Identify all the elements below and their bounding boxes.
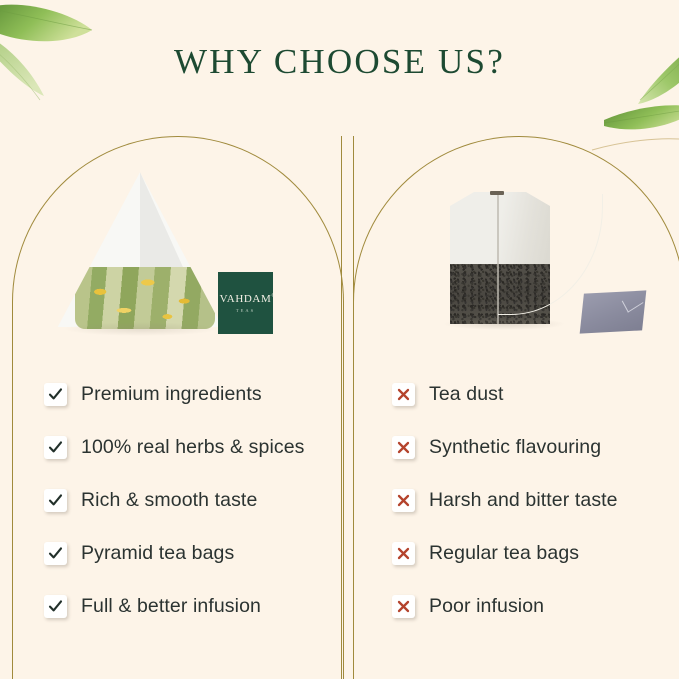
list-item: 100% real herbs & spices: [44, 421, 334, 474]
list-item-label: Regular tea bags: [429, 542, 579, 565]
check-icon: [44, 489, 67, 512]
cross-icon: [392, 383, 415, 406]
benefits-list: Premium ingredients 100% real herbs & sp…: [44, 368, 334, 633]
conventional-tea-bag-image: [440, 178, 650, 353]
list-item-label: Rich & smooth taste: [81, 489, 257, 512]
check-icon: [44, 595, 67, 618]
list-item: Poor infusion: [392, 580, 672, 633]
cross-icon: [392, 436, 415, 459]
list-item: Pyramid tea bags: [44, 527, 334, 580]
list-item: Regular tea bags: [392, 527, 672, 580]
list-item-label: Harsh and bitter taste: [429, 489, 618, 512]
column-divider-line-2: [353, 136, 354, 679]
vahdam-logo-badge: VAHDAM® TEAS: [218, 272, 273, 334]
list-item: Synthetic flavouring: [392, 421, 672, 474]
list-item-label: Full & better infusion: [81, 595, 261, 618]
cross-icon: [392, 595, 415, 618]
list-item: Tea dust: [392, 368, 672, 421]
list-item-label: Pyramid tea bags: [81, 542, 234, 565]
promo-graphic: WHY CHOOSE US? VAHDAM® TEAS: [0, 0, 679, 679]
cross-icon: [392, 489, 415, 512]
brand-name: VAHDAM: [220, 293, 272, 305]
list-item-label: Synthetic flavouring: [429, 436, 601, 459]
check-icon: [44, 542, 67, 565]
list-item: Rich & smooth taste: [44, 474, 334, 527]
pyramid-tea-bag-image: VAHDAM® TEAS: [55, 172, 285, 352]
drawbacks-list: Tea dust Synthetic flavouring Harsh and …: [392, 368, 672, 633]
list-item-label: Poor infusion: [429, 595, 544, 618]
list-item: Premium ingredients: [44, 368, 334, 421]
page-title: WHY CHOOSE US?: [0, 42, 679, 82]
column-divider-line-1: [341, 136, 342, 679]
brand-tagline: TEAS: [236, 308, 255, 313]
list-item-label: 100% real herbs & spices: [81, 436, 305, 459]
list-item-label: Tea dust: [429, 383, 504, 406]
list-item-label: Premium ingredients: [81, 383, 262, 406]
list-item: Full & better infusion: [44, 580, 334, 633]
cross-icon: [392, 542, 415, 565]
tea-bag-tag: [580, 290, 647, 333]
check-icon: [44, 436, 67, 459]
registered-mark-icon: ®: [271, 294, 275, 299]
check-icon: [44, 383, 67, 406]
list-item: Harsh and bitter taste: [392, 474, 672, 527]
